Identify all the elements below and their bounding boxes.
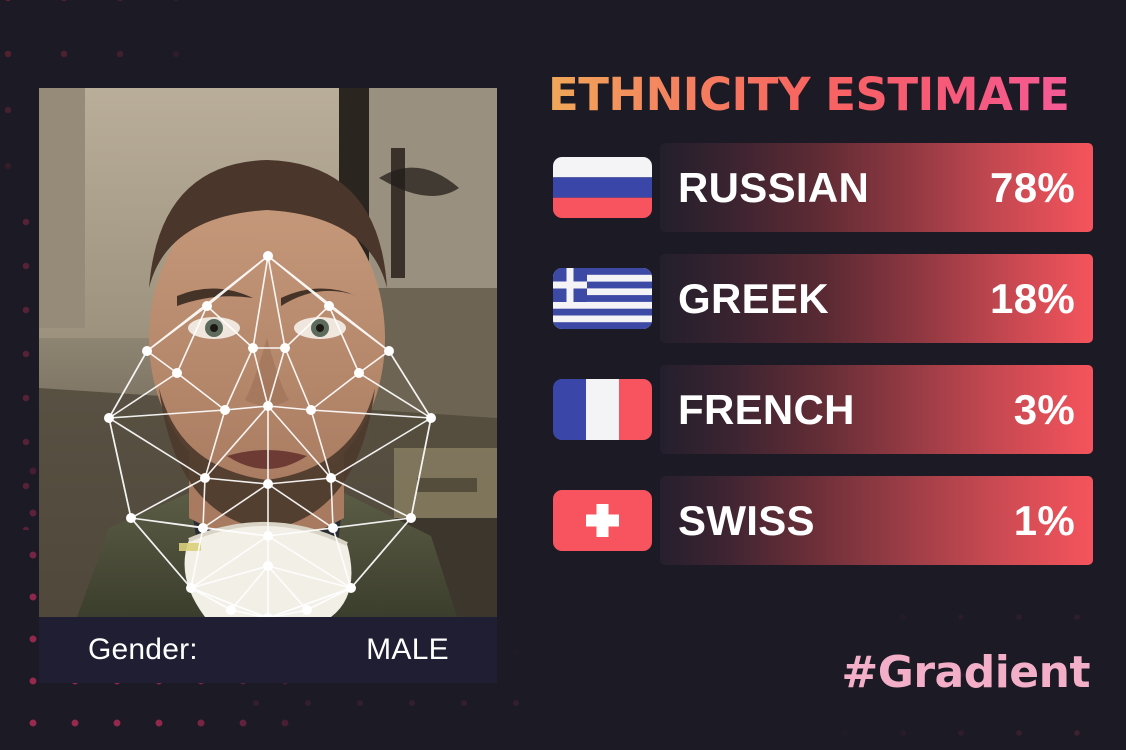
flag-greece-icon bbox=[553, 268, 652, 329]
ethnicity-name: FRENCH bbox=[678, 386, 855, 434]
list-item[interactable]: RUSSIAN 78% bbox=[548, 143, 1093, 232]
flag-russia-icon bbox=[553, 157, 652, 218]
ethnicity-panel: ETHNICITY ESTIMATE RUSSIAN 78% GREEK bbox=[548, 72, 1093, 587]
list-item[interactable]: GREEK 18% bbox=[548, 254, 1093, 343]
face-mesh-overlay bbox=[39, 88, 497, 617]
flag-france-icon bbox=[553, 379, 652, 440]
ethnicity-percent: 78% bbox=[990, 164, 1075, 212]
ethnicity-percent: 3% bbox=[1014, 386, 1075, 434]
gender-value: MALE bbox=[366, 633, 449, 667]
gender-label: Gender: bbox=[88, 633, 198, 667]
gender-bar: Gender: MALE bbox=[39, 617, 497, 683]
photo-card: Gender: MALE bbox=[39, 88, 497, 683]
flag-switzerland-icon bbox=[553, 490, 652, 551]
ethnicity-percent: 1% bbox=[1014, 497, 1075, 545]
ethnicity-percent: 18% bbox=[990, 275, 1075, 323]
ethnicity-estimate-card: Gender: MALE ETHNICITY ESTIMATE RUSSIAN … bbox=[0, 0, 1126, 750]
ethnicity-name: RUSSIAN bbox=[678, 164, 869, 212]
ethnicity-name: GREEK bbox=[678, 275, 829, 323]
ethnicity-name: SWISS bbox=[678, 497, 815, 545]
brand-watermark: #Gradient bbox=[841, 647, 1090, 698]
ethnicity-list: RUSSIAN 78% GREEK 18% bbox=[548, 143, 1093, 565]
page-title: ETHNICITY ESTIMATE bbox=[548, 72, 1093, 117]
list-item[interactable]: SWISS 1% bbox=[548, 476, 1093, 565]
list-item[interactable]: FRENCH 3% bbox=[548, 365, 1093, 454]
subject-photo bbox=[39, 88, 497, 617]
